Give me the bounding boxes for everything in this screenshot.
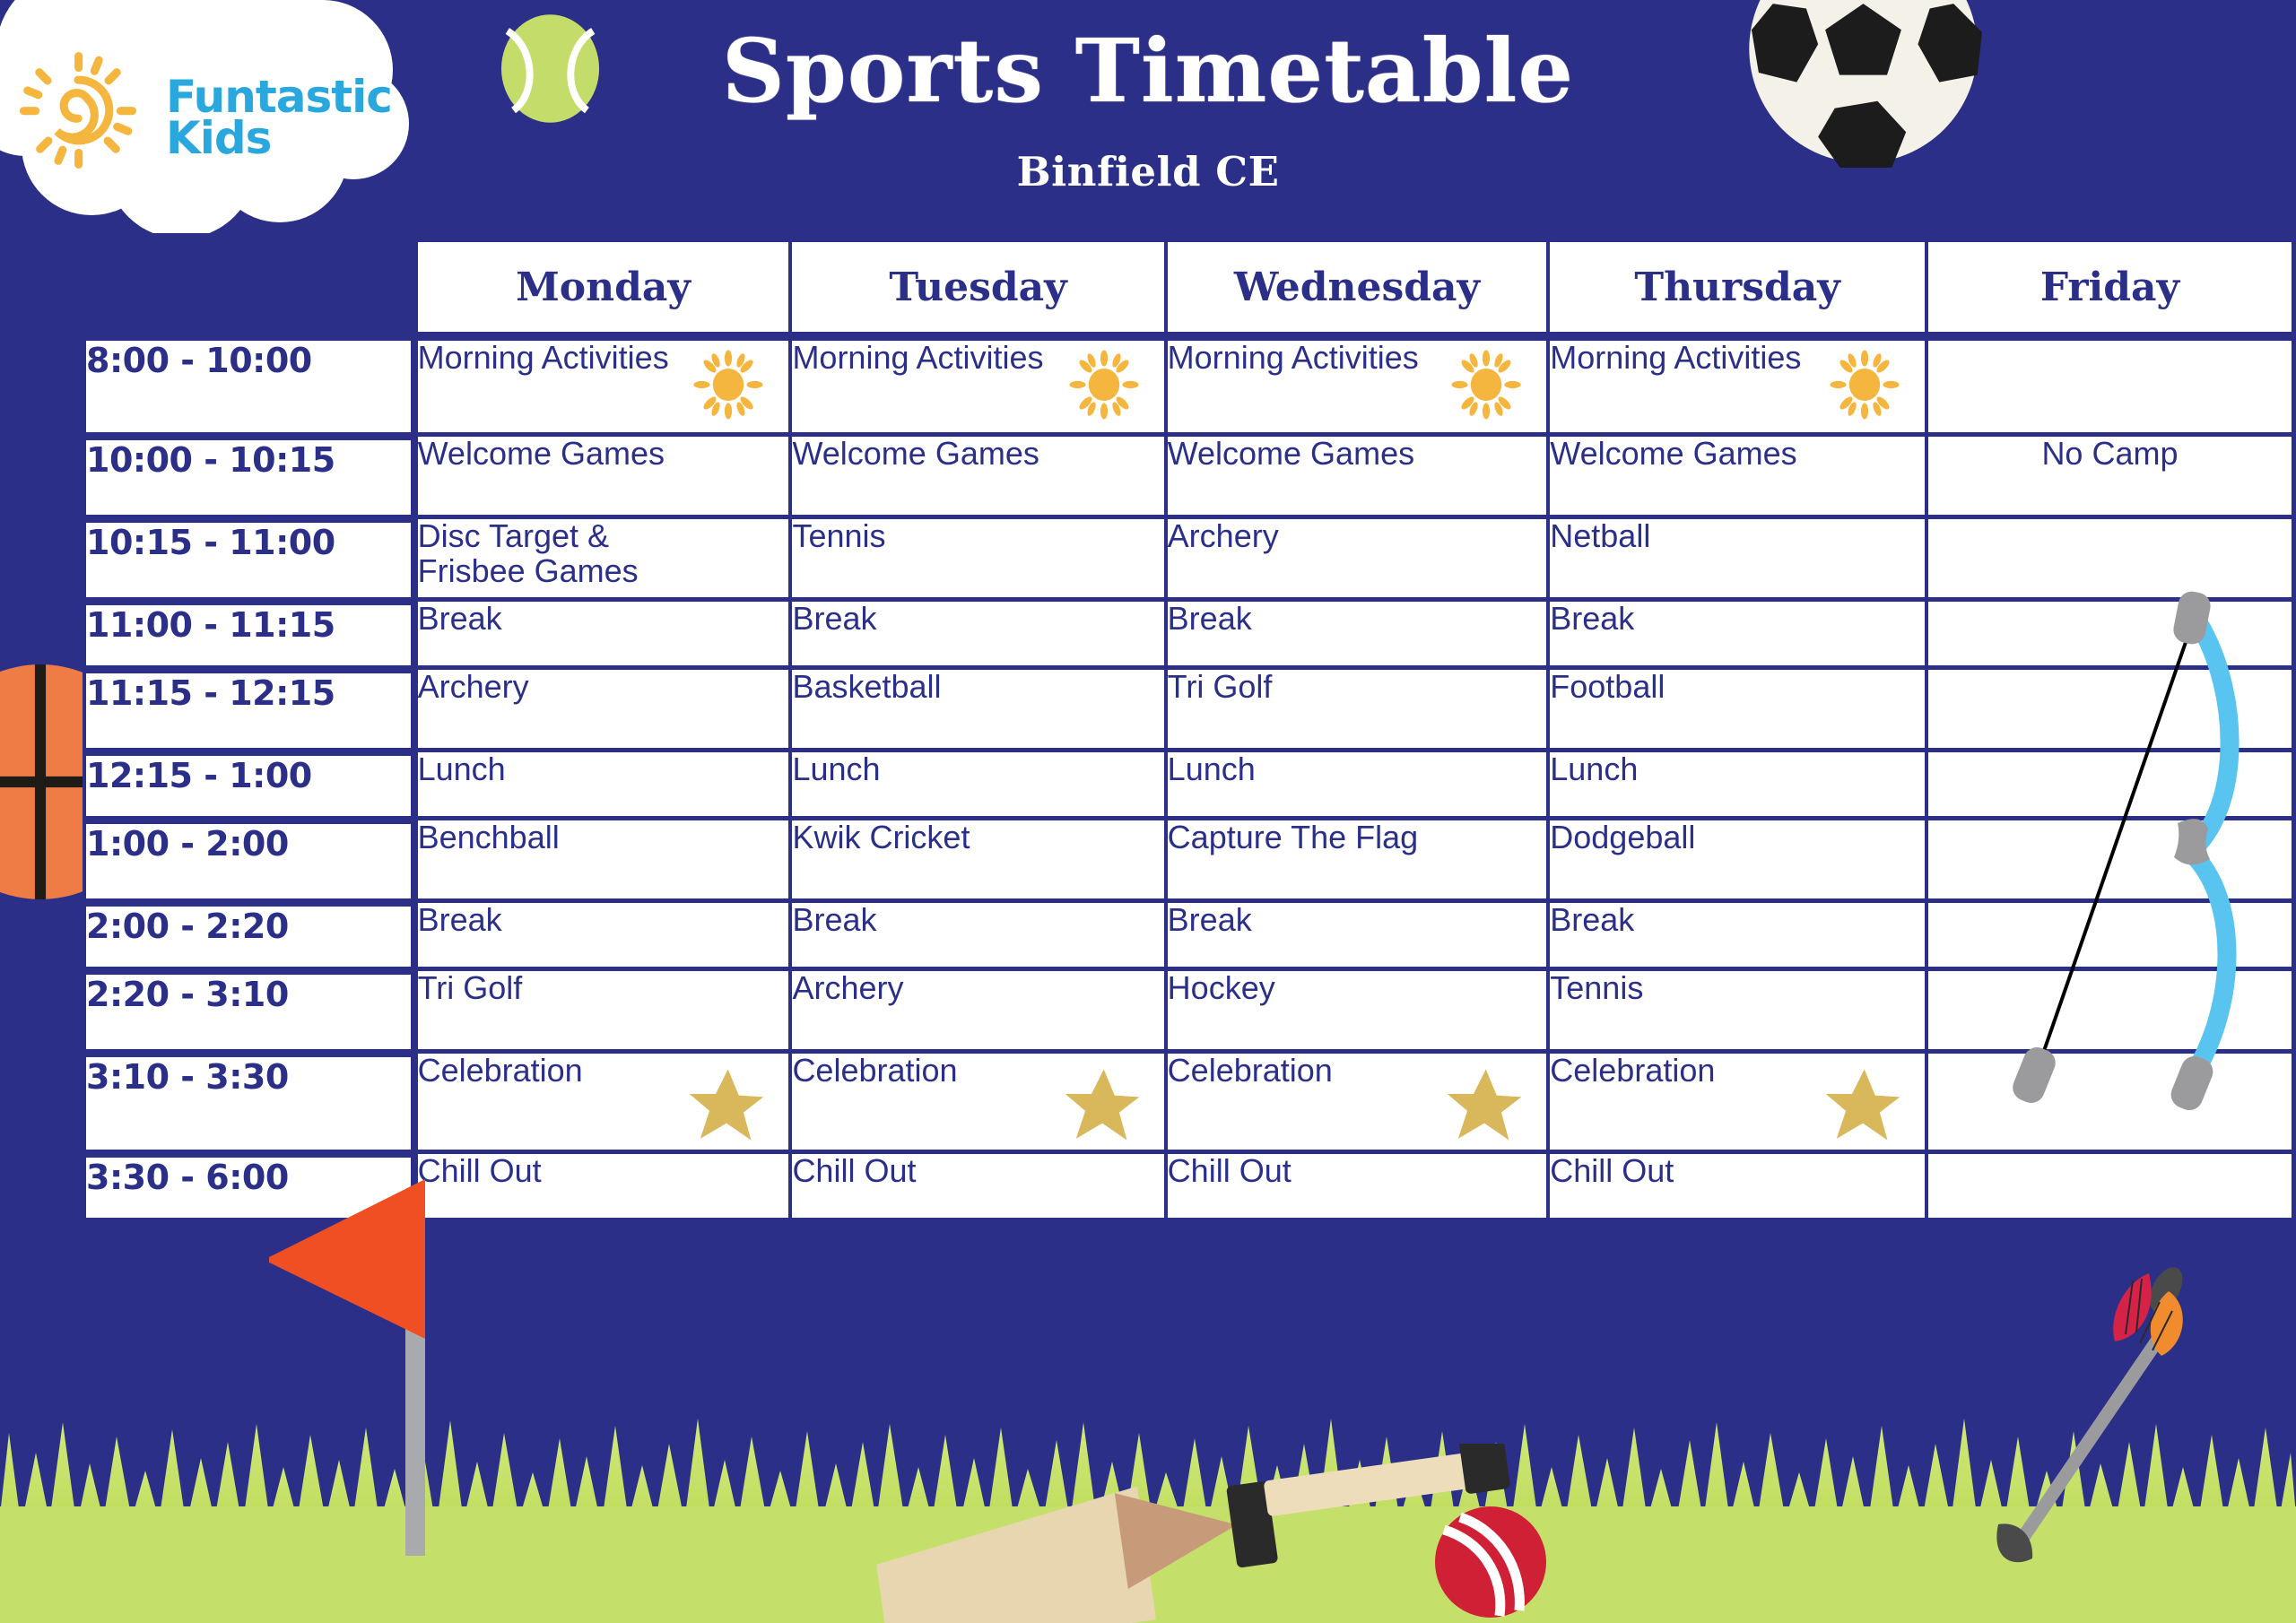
activity-cell[interactable]: Break	[788, 903, 1163, 971]
activity-label: Break	[418, 602, 687, 637]
activity-cell[interactable]: Lunch	[1164, 752, 1547, 820]
timetable-row: 2:00 - 2:20BreakBreakBreakBreak	[83, 903, 2296, 971]
day-header-thursday[interactable]: Thursday	[1546, 238, 1925, 336]
activity-cell[interactable]: Dodgeball	[1546, 820, 1925, 903]
activity-label: Lunch	[1168, 752, 1437, 787]
star-icon	[1824, 1066, 1901, 1143]
activity-label: Chill Out	[1550, 1154, 1819, 1189]
day-header-friday[interactable]: Friday	[1925, 238, 2296, 336]
activity-label: Break	[1550, 903, 1819, 938]
activity-label: Break	[792, 903, 1061, 938]
time-slot-label: 2:00 - 2:20	[83, 903, 414, 971]
timetable-header-row: MondayTuesdayWednesdayThursdayFriday	[83, 238, 2296, 336]
sun-logo-icon	[20, 52, 136, 169]
star-icon	[688, 1066, 765, 1143]
activity-cell[interactable]: Archery	[1164, 519, 1547, 602]
timetable-container: MondayTuesdayWednesdayThursdayFriday 8:0…	[83, 238, 2296, 1222]
activity-cell[interactable]: Lunch	[788, 752, 1163, 820]
brand-logo-line2: Kids	[166, 117, 392, 159]
timetable-row: 8:00 - 10:00Morning ActivitiesMorning Ac…	[83, 336, 2296, 437]
activity-label: Basketball	[792, 670, 1061, 705]
timetable-row: 10:15 - 11:00Disc Target & Frisbee Games…	[83, 519, 2296, 602]
activity-cell[interactable]: Lunch	[1546, 752, 1925, 820]
activity-label: Tennis	[1550, 971, 1819, 1006]
activity-label: Capture The Flag	[1168, 820, 1437, 855]
time-slot-label: 11:15 - 12:15	[83, 670, 414, 752]
activity-cell[interactable]: Chill Out	[1546, 1154, 1925, 1222]
activity-label: Tri Golf	[1168, 670, 1437, 705]
activity-cell[interactable]: Morning Activities	[414, 336, 789, 437]
activity-label: Archery	[792, 971, 1061, 1006]
activity-label: Kwik Cricket	[792, 820, 1061, 855]
sun-icon	[1067, 348, 1141, 421]
activity-label: Lunch	[792, 752, 1061, 787]
sun-icon	[1449, 348, 1523, 421]
day-header-tuesday[interactable]: Tuesday	[788, 238, 1163, 336]
activity-label: Morning Activities	[792, 341, 1061, 376]
day-header-monday[interactable]: Monday	[414, 238, 789, 336]
activity-label: Welcome Games	[1168, 437, 1437, 472]
activity-cell[interactable]: Break	[414, 602, 789, 670]
time-slot-label: 11:00 - 11:15	[83, 602, 414, 670]
time-slot-label: 10:15 - 11:00	[83, 519, 414, 602]
time-slot-label: 1:00 - 2:00	[83, 820, 414, 903]
activity-label: Netball	[1550, 519, 1819, 554]
activity-cell[interactable]: Break	[1546, 903, 1925, 971]
activity-label: Chill Out	[1168, 1154, 1437, 1189]
activity-cell[interactable]: Welcome Games	[414, 437, 789, 519]
activity-cell[interactable]: Celebration	[788, 1054, 1163, 1154]
activity-cell[interactable]: Break	[414, 903, 789, 971]
activity-cell[interactable]: Tri Golf	[1164, 670, 1547, 752]
activity-cell[interactable]: Morning Activities	[1546, 336, 1925, 437]
activity-cell[interactable]	[1925, 1154, 2296, 1222]
activity-cell[interactable]: Disc Target & Frisbee Games	[414, 519, 789, 602]
activity-cell[interactable]: Celebration	[1546, 1054, 1925, 1154]
star-icon	[1064, 1066, 1141, 1143]
activity-cell[interactable]	[1925, 336, 2296, 437]
activity-cell[interactable]: Welcome Games	[788, 437, 1163, 519]
cricket-bat-icon	[852, 1444, 1552, 1623]
activity-label: Lunch	[1550, 752, 1819, 787]
activity-cell[interactable]: Capture The Flag	[1164, 820, 1547, 903]
cricket-ball-icon	[1435, 1506, 1546, 1618]
activity-label: Chill Out	[792, 1154, 1061, 1189]
activity-cell[interactable]: Hockey	[1164, 971, 1547, 1054]
activity-label: Celebration	[1550, 1054, 1819, 1089]
activity-cell[interactable]: Break	[788, 602, 1163, 670]
time-slot-label: 8:00 - 10:00	[83, 336, 414, 437]
archery-bow-icon	[2000, 583, 2269, 1139]
activity-label: Archery	[418, 670, 687, 705]
time-slot-label: 10:00 - 10:15	[83, 437, 414, 519]
poster-canvas: Funtastic Kids Sports Timetable Binfield…	[0, 0, 2296, 1623]
activity-label: No Camp	[1928, 437, 2292, 472]
activity-label: Tennis	[792, 519, 1061, 554]
activity-label: Welcome Games	[418, 437, 687, 472]
activity-cell[interactable]: Celebration	[414, 1054, 789, 1154]
sun-icon	[691, 348, 765, 421]
time-slot-label: 2:20 - 3:10	[83, 971, 414, 1054]
activity-label: Archery	[1168, 519, 1437, 554]
activity-cell[interactable]: Chill Out	[788, 1154, 1163, 1222]
activity-cell[interactable]: Archery	[414, 670, 789, 752]
activity-cell[interactable]: Basketball	[788, 670, 1163, 752]
activity-cell[interactable]: Welcome Games	[1546, 437, 1925, 519]
timetable-row: 1:00 - 2:00BenchballKwik CricketCapture …	[83, 820, 2296, 903]
activity-label: Break	[1168, 602, 1437, 637]
activity-label: Morning Activities	[1550, 341, 1819, 376]
activity-label: Morning Activities	[1168, 341, 1437, 376]
timetable-row: 3:10 - 3:30CelebrationCelebrationCelebra…	[83, 1054, 2296, 1154]
timetable-row: 10:00 - 10:15Welcome GamesWelcome GamesW…	[83, 437, 2296, 519]
golf-flag-icon	[269, 1179, 475, 1556]
timetable-row: 11:00 - 11:15BreakBreakBreakBreak	[83, 602, 2296, 670]
activity-label: Lunch	[418, 752, 687, 787]
activity-label: Welcome Games	[1550, 437, 1819, 472]
activity-cell[interactable]: Archery	[788, 971, 1163, 1054]
activity-cell[interactable]: Lunch	[414, 752, 789, 820]
activity-cell[interactable]: Football	[1546, 670, 1925, 752]
timetable-row: 11:15 - 12:15ArcheryBasketballTri GolfFo…	[83, 670, 2296, 752]
activity-label: Benchball	[418, 820, 687, 855]
time-slot-label: 12:15 - 1:00	[83, 752, 414, 820]
corner-cell	[83, 238, 414, 336]
activity-label: Celebration	[418, 1054, 687, 1089]
activity-cell[interactable]: Kwik Cricket	[788, 820, 1163, 903]
activity-cell[interactable]: Benchball	[414, 820, 789, 903]
activity-label: Break	[1168, 903, 1437, 938]
activity-cell[interactable]: Morning Activities	[788, 336, 1163, 437]
activity-label: Break	[792, 602, 1061, 637]
activity-cell[interactable]: Celebration	[1164, 1054, 1547, 1154]
activity-cell[interactable]: Break	[1546, 602, 1925, 670]
activity-cell[interactable]: Netball	[1546, 519, 1925, 602]
sun-icon	[1828, 348, 1901, 421]
day-header-wednesday[interactable]: Wednesday	[1164, 238, 1547, 336]
activity-cell[interactable]: Tennis	[1546, 971, 1925, 1054]
activity-label: Disc Target & Frisbee Games	[418, 519, 687, 588]
activity-label: Football	[1550, 670, 1819, 705]
timetable-body: 8:00 - 10:00Morning ActivitiesMorning Ac…	[83, 336, 2296, 1222]
brand-logo-text: Funtastic Kids	[166, 76, 392, 159]
timetable: MondayTuesdayWednesdayThursdayFriday 8:0…	[83, 238, 2296, 1222]
activity-label: Hockey	[1168, 971, 1437, 1006]
activity-cell[interactable]: Break	[1164, 903, 1547, 971]
activity-cell[interactable]: Chill Out	[1164, 1154, 1547, 1222]
activity-label: Celebration	[1168, 1054, 1437, 1089]
time-slot-label: 3:10 - 3:30	[83, 1054, 414, 1154]
activity-label: Break	[418, 903, 687, 938]
activity-label: Welcome Games	[792, 437, 1061, 472]
activity-label: Morning Activities	[418, 341, 687, 376]
activity-cell[interactable]: No Camp	[1925, 437, 2296, 519]
activity-label: Break	[1550, 602, 1819, 637]
activity-cell[interactable]: Morning Activities	[1164, 336, 1547, 437]
activity-label: Tri Golf	[418, 971, 687, 1006]
timetable-row: 2:20 - 3:10Tri GolfArcheryHockeyTennis	[83, 971, 2296, 1054]
star-icon	[1446, 1066, 1523, 1143]
activity-label: Dodgeball	[1550, 820, 1819, 855]
activity-cell[interactable]: Tri Golf	[414, 971, 789, 1054]
arrow-icon	[1982, 1255, 2233, 1596]
activity-label: Celebration	[792, 1054, 1061, 1089]
activity-cell[interactable]: Tennis	[788, 519, 1163, 602]
activity-cell[interactable]: Break	[1164, 602, 1547, 670]
timetable-row: 12:15 - 1:00LunchLunchLunchLunch	[83, 752, 2296, 820]
activity-cell[interactable]: Welcome Games	[1164, 437, 1547, 519]
